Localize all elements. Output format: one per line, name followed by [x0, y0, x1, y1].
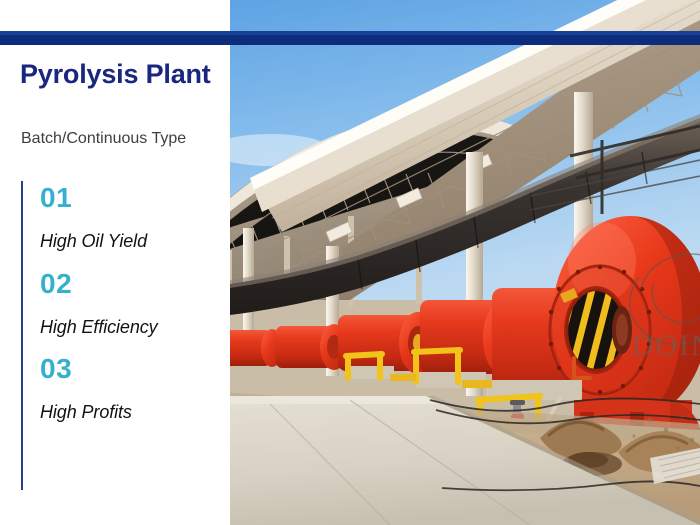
page-subtitle: Batch/Continuous Type	[21, 129, 231, 148]
page-title: Pyrolysis Plant	[20, 60, 230, 90]
plant-photo: DOING	[230, 0, 700, 525]
feature-list: 01 High Oil Yield 02 High Efficiency 03 …	[40, 181, 230, 424]
top-accent-bar	[0, 31, 700, 45]
top-accent-bar-highlight	[0, 31, 700, 35]
feature-item-2: 02 High Efficiency	[40, 267, 230, 339]
slide-canvas: DOING Pyrolysis Plant Batch/Continuous T…	[0, 0, 700, 525]
feature-number-1: 01	[40, 181, 230, 214]
feature-item-3: 03 High Profits	[40, 352, 230, 424]
feature-number-2: 02	[40, 267, 230, 300]
feature-number-3: 03	[40, 352, 230, 385]
feature-label-2: High Efficiency	[40, 317, 230, 339]
vertical-accent-rule	[21, 181, 23, 490]
feature-label-3: High Profits	[40, 402, 230, 424]
feature-label-1: High Oil Yield	[40, 231, 230, 253]
feature-item-1: 01 High Oil Yield	[40, 181, 230, 253]
plant-photo-illustration	[230, 0, 700, 525]
